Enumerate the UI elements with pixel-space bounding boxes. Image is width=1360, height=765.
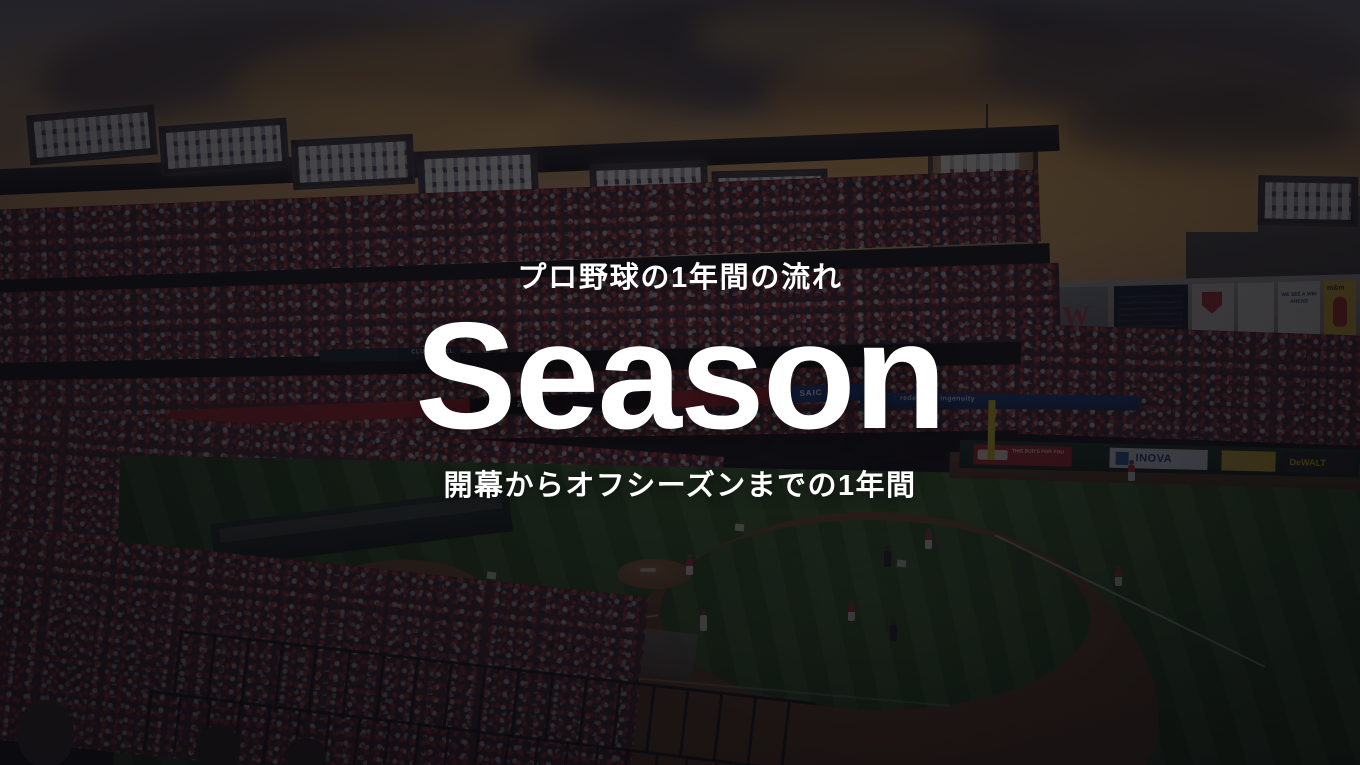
hero-banner: プロ野球の1年間の流れ Season 開幕からオフシーズンまでの1年間 bbox=[0, 0, 1360, 765]
hero-text-block: プロ野球の1年間の流れ Season 開幕からオフシーズンまでの1年間 bbox=[0, 0, 1360, 765]
hero-title: Season bbox=[415, 302, 945, 451]
hero-subtitle: 開幕からオフシーズンまでの1年間 bbox=[444, 469, 917, 504]
